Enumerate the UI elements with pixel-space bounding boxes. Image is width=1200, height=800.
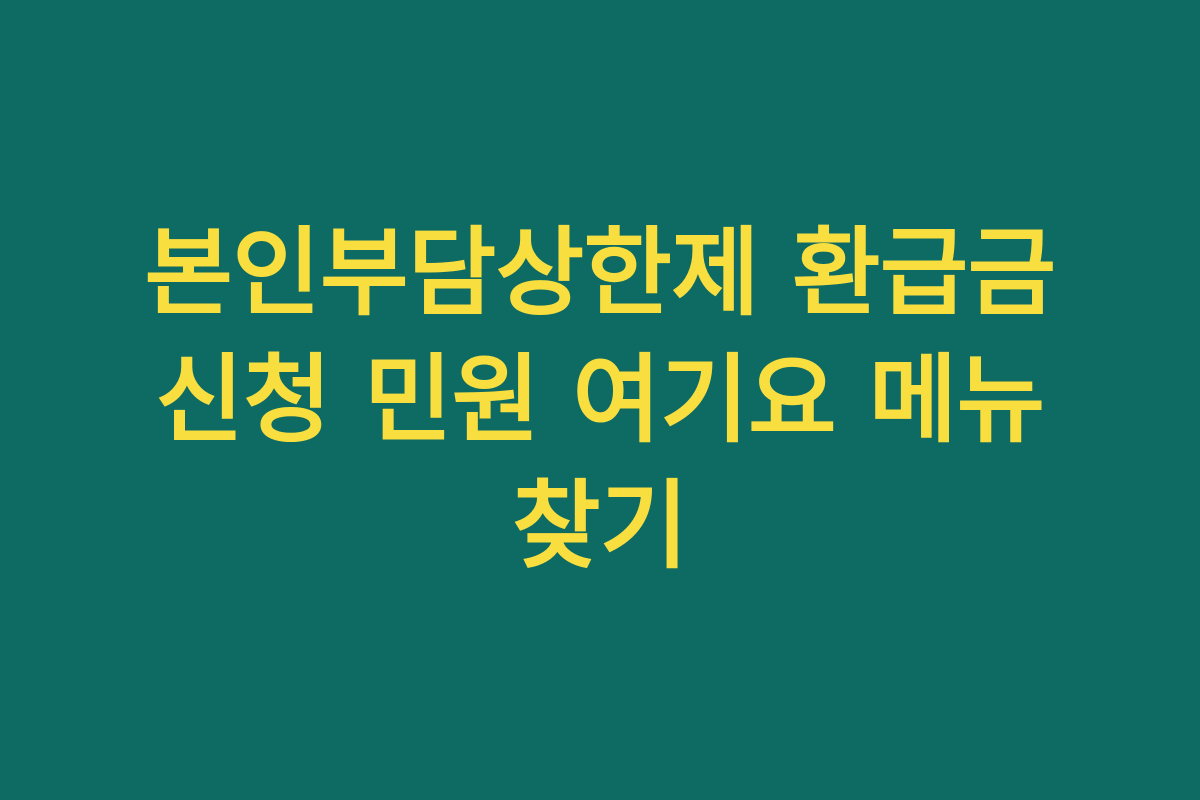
headline: 본인부담상한제 환급금 신청 민원 여기요 메뉴 찾기 (70, 210, 1130, 590)
headline-line-2: 신청 민원 여기요 메뉴 (70, 337, 1130, 464)
headline-line-3: 찾기 (70, 463, 1130, 590)
title-card: 본인부담상한제 환급금 신청 민원 여기요 메뉴 찾기 (0, 0, 1200, 800)
headline-line-1: 본인부담상한제 환급금 (70, 210, 1130, 337)
